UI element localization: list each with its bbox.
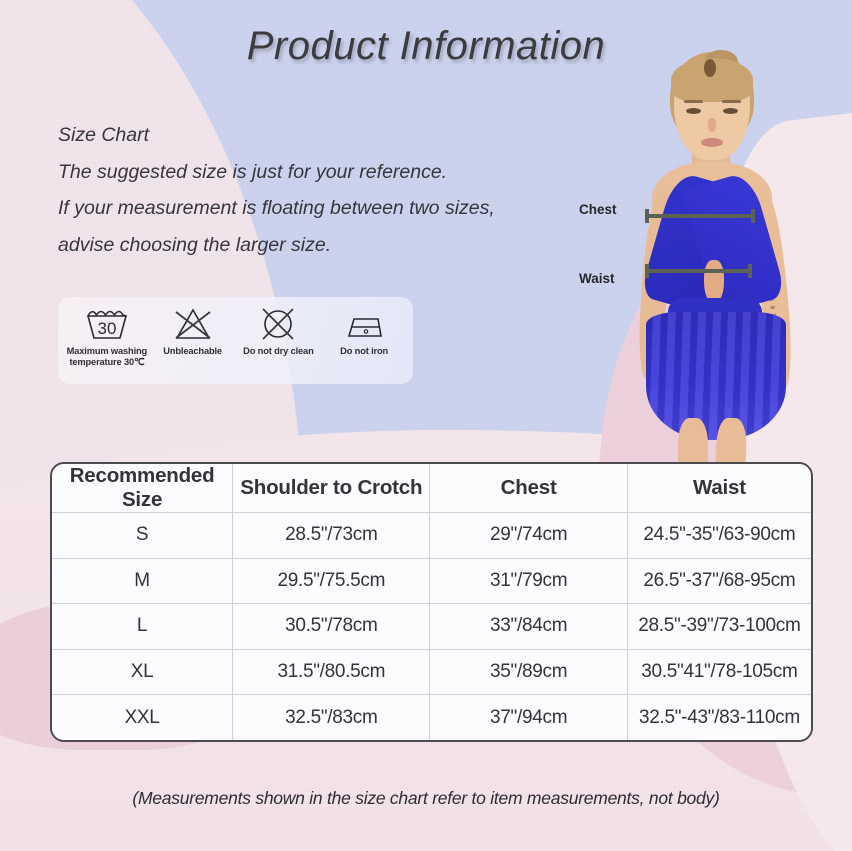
- care-instructions-panel: 30 Maximum washing temperature 30℃ Unble…: [58, 297, 413, 384]
- intro-line-1: The suggested size is just for your refe…: [58, 163, 578, 183]
- model-photo: [612, 50, 822, 485]
- cell-waist: 24.5"-35"/63-90cm: [627, 513, 811, 559]
- cell-size: L: [52, 604, 233, 650]
- cell-shoulder: 30.5"/78cm: [233, 604, 430, 650]
- cell-shoulder: 31.5"/80.5cm: [233, 649, 430, 695]
- do-not-iron-icon: [340, 306, 388, 342]
- chest-measurement-label: Chest: [579, 202, 617, 217]
- measurement-disclaimer: (Measurements shown in the size chart re…: [0, 788, 852, 809]
- waist-measurement-cap-right: [748, 264, 752, 278]
- table-row: L 30.5"/78cm 33"/84cm 28.5"-39"/73-100cm: [52, 604, 811, 650]
- care-label-iron: Do not iron: [340, 346, 388, 357]
- cell-chest: 31"/79cm: [430, 558, 627, 604]
- cell-size: XL: [52, 649, 233, 695]
- waist-measurement-cap-left: [645, 264, 649, 278]
- table-row: XXL 32.5"/83cm 37"/94cm 32.5"-43"/83-110…: [52, 695, 811, 741]
- do-not-bleach-icon: [171, 306, 215, 342]
- model-brow-right: [722, 100, 741, 103]
- cell-waist: 30.5"41"/78-105cm: [627, 649, 811, 695]
- wash-tub-30-icon: 30: [82, 306, 132, 342]
- cell-size: XXL: [52, 695, 233, 741]
- chest-measurement-line: [645, 214, 755, 218]
- cell-shoulder: 28.5"/73cm: [233, 513, 430, 559]
- care-label-bleach: Unbleachable: [163, 346, 222, 357]
- table-row: S 28.5"/73cm 29"/74cm 24.5"-35"/63-90cm: [52, 513, 811, 559]
- cell-chest: 33"/84cm: [430, 604, 627, 650]
- model-eye-left: [686, 108, 701, 114]
- cell-waist: 26.5"-37"/68-95cm: [627, 558, 811, 604]
- care-item-dry-clean: Do not dry clean: [236, 306, 322, 357]
- cell-shoulder: 32.5"/83cm: [233, 695, 430, 741]
- waist-measurement-label: Waist: [579, 271, 615, 286]
- model-brow-left: [684, 100, 703, 103]
- care-label-washing: Maximum washing temperature 30℃: [64, 346, 150, 369]
- chest-measurement-cap-right: [751, 209, 755, 223]
- column-header-shoulder-to-crotch: Shoulder to Crotch: [233, 464, 430, 513]
- column-header-waist: Waist: [627, 464, 811, 513]
- column-header-chest: Chest: [430, 464, 627, 513]
- intro-line-3: advise choosing the larger size.: [58, 236, 578, 256]
- care-item-bleach: Unbleachable: [150, 306, 236, 357]
- table-row: M 29.5"/75.5cm 31"/79cm 26.5"-37"/68-95c…: [52, 558, 811, 604]
- column-header-recommended-size: Recommended Size: [52, 464, 233, 513]
- table-header-row: Recommended Size Shoulder to Crotch Ches…: [52, 464, 811, 513]
- care-item-washing: 30 Maximum washing temperature 30℃: [64, 306, 150, 369]
- model-nose: [708, 118, 716, 132]
- intro-line-2: If your measurement is floating between …: [58, 199, 578, 219]
- cell-waist: 28.5"-39"/73-100cm: [627, 604, 811, 650]
- care-item-iron: Do not iron: [321, 306, 407, 357]
- dress-skirt: [646, 312, 786, 440]
- size-chart-heading: Size Chart: [58, 126, 578, 146]
- model-hair-part: [704, 59, 716, 77]
- cell-size: S: [52, 513, 233, 559]
- table-row: XL 31.5"/80.5cm 35"/89cm 30.5"41"/78-105…: [52, 649, 811, 695]
- product-information-page: Product Information Size Chart The sugge…: [0, 0, 852, 851]
- do-not-dry-clean-icon: [258, 306, 298, 342]
- size-chart-table: Recommended Size Shoulder to Crotch Ches…: [50, 462, 813, 742]
- cell-chest: 29"/74cm: [430, 513, 627, 559]
- model-lips: [701, 138, 723, 147]
- waist-measurement-line: [645, 269, 752, 273]
- cell-size: M: [52, 558, 233, 604]
- cell-chest: 37"/94cm: [430, 695, 627, 741]
- cell-chest: 35"/89cm: [430, 649, 627, 695]
- chest-measurement-cap-left: [645, 209, 649, 223]
- model-eye-right: [723, 108, 738, 114]
- cell-waist: 32.5"-43"/83-110cm: [627, 695, 811, 741]
- intro-text-block: Size Chart The suggested size is just fo…: [58, 126, 578, 255]
- cell-shoulder: 29.5"/75.5cm: [233, 558, 430, 604]
- svg-text:30: 30: [97, 319, 116, 338]
- care-label-dry-clean: Do not dry clean: [243, 346, 313, 357]
